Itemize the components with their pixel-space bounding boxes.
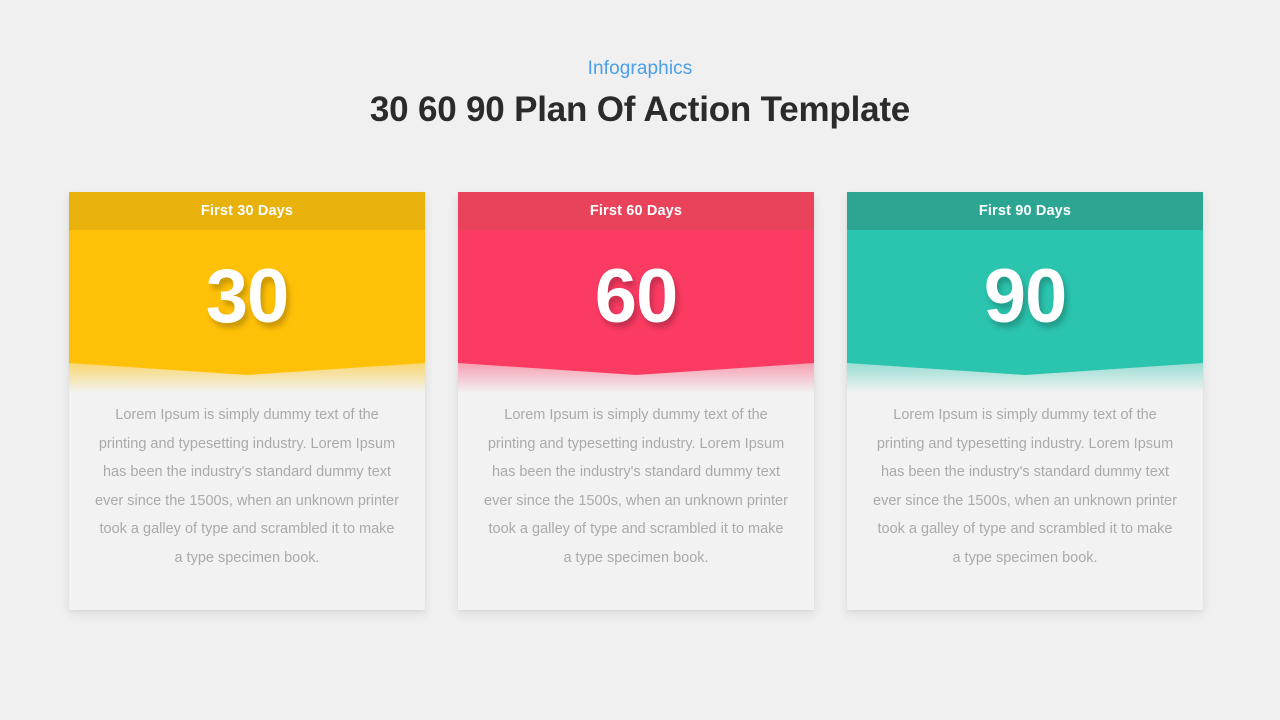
plan-card-60[interactable]: First 60 Days 60 Lorem Ipsum is simply d… <box>458 192 814 610</box>
card-body-text: Lorem Ipsum is simply dummy text of the … <box>484 401 788 572</box>
accent-block: First 90 Days 90 <box>847 192 1203 375</box>
card-header-strip: First 60 Days <box>458 192 814 230</box>
card-body-text: Lorem Ipsum is simply dummy text of the … <box>873 401 1177 572</box>
card-big-number: 60 <box>595 259 678 335</box>
infographic-slide: Infographics 30 60 90 Plan Of Action Tem… <box>0 0 1280 720</box>
card-big-number: 30 <box>206 259 289 335</box>
cards-row: First 30 Days 30 Lorem Ipsum is simply d… <box>69 192 1203 610</box>
card-header-label: First 60 Days <box>590 203 682 219</box>
card-body-text: Lorem Ipsum is simply dummy text of the … <box>95 401 399 572</box>
card-big-number: 90 <box>984 259 1067 335</box>
slide-header: Infographics 30 60 90 Plan Of Action Tem… <box>0 0 1280 130</box>
card-header-label: First 30 Days <box>201 203 293 219</box>
plan-card-30[interactable]: First 30 Days 30 Lorem Ipsum is simply d… <box>69 192 425 610</box>
plan-card-90[interactable]: First 90 Days 90 Lorem Ipsum is simply d… <box>847 192 1203 610</box>
chevron-down-icon <box>458 363 814 375</box>
chevron-down-icon <box>847 363 1203 375</box>
card-header-label: First 90 Days <box>979 203 1071 219</box>
card-number-area: 90 <box>847 230 1203 363</box>
page-title: 30 60 90 Plan Of Action Template <box>0 90 1280 130</box>
eyebrow-label: Infographics <box>0 58 1280 80</box>
card-header-strip: First 30 Days <box>69 192 425 230</box>
card-number-area: 60 <box>458 230 814 363</box>
chevron-down-icon <box>69 363 425 375</box>
accent-block: First 60 Days 60 <box>458 192 814 375</box>
accent-block: First 30 Days 30 <box>69 192 425 375</box>
card-number-area: 30 <box>69 230 425 363</box>
card-header-strip: First 90 Days <box>847 192 1203 230</box>
